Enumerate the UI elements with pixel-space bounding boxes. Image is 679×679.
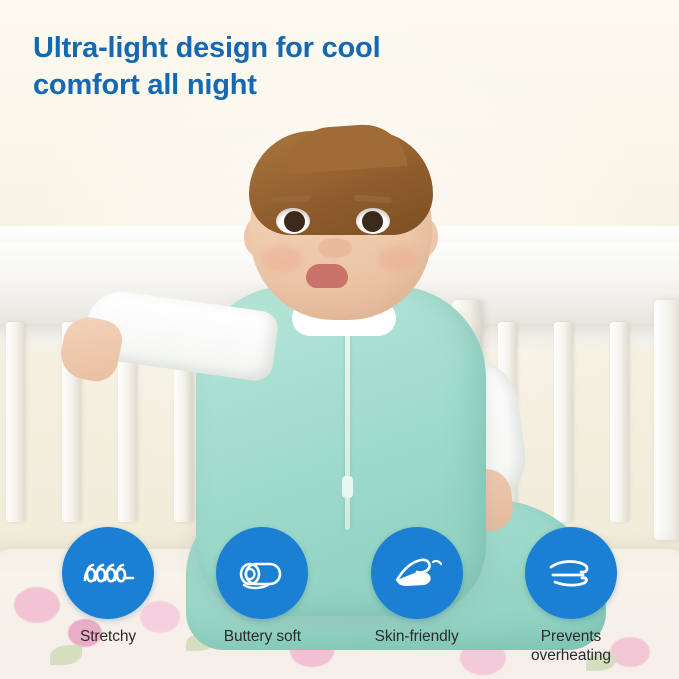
- feature-buttery-soft: Buttery soft: [202, 527, 322, 665]
- baby-nose: [318, 238, 352, 258]
- feature-skin-friendly: Skin-friendly: [357, 527, 477, 665]
- feature-badge-circle: [371, 527, 463, 619]
- baby-cheek-left: [262, 246, 302, 272]
- sleep-sack-zipper: [345, 330, 350, 530]
- hand-touch-icon: [389, 550, 445, 596]
- spring-coil-icon: [79, 553, 137, 593]
- airflow-breeze-icon: [543, 553, 599, 593]
- feature-badge-circle: [525, 527, 617, 619]
- headline-line-1: Ultra-light design for cool: [33, 30, 593, 67]
- feature-prevents-overheating: Prevents overheating: [511, 527, 631, 665]
- baby-pupil-right: [362, 211, 383, 232]
- feature-label: Skin-friendly: [375, 628, 459, 646]
- feature-badge-circle: [62, 527, 154, 619]
- headline: Ultra-light design for cool comfort all …: [33, 30, 593, 105]
- zipper-pull: [342, 476, 353, 498]
- feature-stretchy: Stretchy: [48, 527, 168, 665]
- feature-label: Prevents overheating: [511, 628, 631, 665]
- feature-label: Buttery soft: [224, 628, 301, 646]
- feature-badge-row: Stretchy Buttery soft: [0, 527, 679, 665]
- baby-hair-tuft: [285, 122, 408, 174]
- product-feature-image: Ultra-light design for cool comfort all …: [0, 0, 679, 679]
- feature-badge-circle: [216, 527, 308, 619]
- baby-mouth: [306, 264, 348, 288]
- baby-cheek-right: [378, 246, 418, 272]
- rolled-fabric-icon: [234, 552, 290, 594]
- headline-line-2: comfort all night: [33, 67, 593, 104]
- baby-pupil-left: [284, 211, 305, 232]
- feature-label: Stretchy: [80, 628, 136, 646]
